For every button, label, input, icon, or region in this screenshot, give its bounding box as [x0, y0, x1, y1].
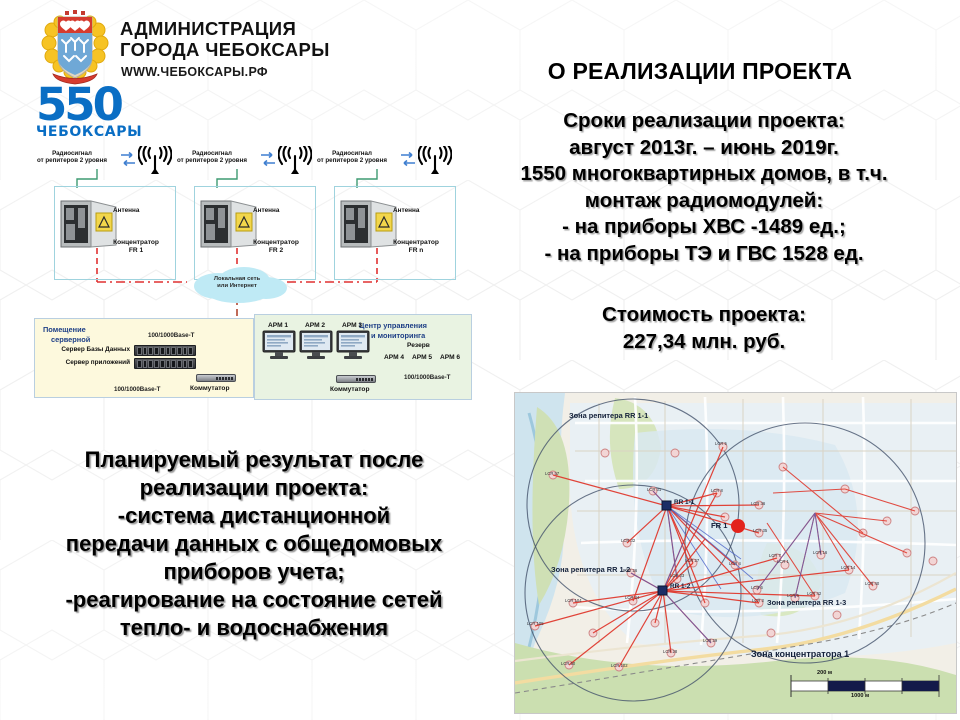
map-node-rr12: RR 1-2: [670, 583, 690, 590]
map-lcr-node-label: LCR 9: [787, 593, 799, 598]
map-lcr-node-label: LCR 57: [545, 471, 559, 476]
result-line-6: -реагирование на состояние сетей: [4, 586, 504, 614]
reserve-workstation-label-3: АРМ 6: [440, 354, 460, 361]
radio-signal-label-2: Радиосигнал от репитеров 2 уровня: [166, 150, 258, 165]
map-lcr-node-label: LCR 8: [711, 488, 723, 493]
terms-line-1: Сроки реализации проекта:: [455, 108, 953, 135]
radio-signal-label-3: Радиосигнал от репитеров 2 уровня: [306, 150, 398, 165]
map-lcr-node-label: LCR 104: [565, 598, 582, 603]
terms-line-5: - на приборы ХВС -1489 ед.;: [455, 214, 953, 241]
workstation-monitor-2: [299, 330, 333, 360]
map-zone-label-rr11: Зона репитера RR 1-1: [569, 411, 648, 420]
map-lcr-node-label: LCR 14: [841, 565, 855, 570]
map-lcr-node-label: LCR 50: [561, 661, 575, 666]
workstation-label-3: АРМ 3: [342, 322, 362, 329]
map-zone-label-rr12: Зона репитера RR 1-2: [551, 565, 630, 574]
map-lcr-node-label: LCR 29: [703, 638, 717, 643]
antenna-label-1: Антенна: [113, 207, 139, 214]
cost-line-2: 227,34 млн. руб.: [455, 329, 953, 356]
db-server-rack: [134, 345, 196, 356]
control-center-switch-label: Коммутатор: [330, 386, 369, 393]
map-lcr-node-label: LCR 28: [663, 649, 677, 654]
map-lcr-node-label: LCR 35: [753, 528, 767, 533]
map-lcr-node-label: LCR 102: [611, 663, 628, 668]
website-url[interactable]: WWW.ЧЕБОКСАРЫ.РФ: [121, 65, 268, 79]
map-lcr-node-label: LCR 32: [621, 538, 635, 543]
anniversary-number: 550: [36, 84, 136, 126]
server-room-switch: [196, 374, 236, 382]
antenna-icon-2: [278, 146, 312, 176]
map-canvas: [515, 393, 956, 713]
signal-arrows-icon-3: [400, 151, 416, 169]
cloud-label: Локальная сеть или Интернет: [200, 276, 274, 290]
map-lcr-node-label: LCR 27: [685, 558, 699, 563]
map-lcr-node-label: LCR 16: [813, 550, 827, 555]
map-lcr-node-label: LCR 42: [807, 591, 821, 596]
radio-signal-label-1: Радиосигнал от репитеров 2 уровня: [26, 150, 118, 165]
brand-block: АДМИНИСТРАЦИЯ ГОРОДА ЧЕБОКСАРЫ WWW.ЧЕБОК…: [36, 6, 456, 146]
server-room-switch-label: Коммутатор: [190, 385, 229, 392]
workstation-monitor-3: [336, 330, 370, 360]
concentrator-label-2: Концентратор FR 2: [243, 239, 309, 255]
map-lcr-node-label: LCR 36: [751, 501, 765, 506]
admin-title-line2: ГОРОДА ЧЕБОКСАРЫ: [120, 39, 330, 60]
project-terms-block: Сроки реализации проекта: август 2013г. …: [455, 108, 953, 267]
map-zone-label-rr13: Зона репитера RR 1-3: [767, 598, 846, 607]
workstation-monitor-1: [262, 330, 296, 360]
antenna-label-2: Антенна: [253, 207, 279, 214]
map-lcr-node-label: LCR 26: [623, 568, 637, 573]
map-scale-small: 200 м: [817, 670, 832, 676]
antenna-icon-3: [418, 146, 452, 176]
workstation-label-1: АРМ 1: [268, 322, 288, 329]
terms-line-3: 1550 многоквартирных домов, в т.ч.: [455, 161, 953, 188]
reserve-label: Резерв: [407, 342, 430, 349]
anniversary-logo-550: 550 ЧЕБОКСАРЫ: [36, 84, 136, 146]
page-title: О РЕАЛИЗАЦИИ ПРОЕКТА: [455, 58, 945, 85]
app-server-rack: [134, 358, 196, 369]
reserve-link-speed: 100/1000Base-T: [404, 374, 450, 381]
map-zone-label-concentrator: Зона концентратора 1: [751, 649, 849, 659]
map-scale-large: 1000 м: [851, 693, 869, 699]
app-server-label: Сервер приложений: [32, 359, 130, 366]
bus-link-speed: 100/1000Base-T: [114, 386, 160, 393]
signal-arrows-icon-2: [260, 151, 276, 169]
coat-of-arms-icon: [40, 8, 110, 86]
cost-line-1: Стоимость проекта:: [455, 302, 953, 329]
terms-line-6: - на приборы ТЭ и ГВС 1528 ед.: [455, 241, 953, 268]
map-lcr-node-label: LCR 4: [729, 561, 741, 566]
terms-line-2: август 2013г. – июнь 2019г.: [455, 135, 953, 162]
concentrator-box-1: Антенна Концентратор FR 1: [54, 186, 176, 280]
map-lcr-node-label: LCR 31: [647, 487, 661, 492]
antenna-icon-1: [138, 146, 172, 176]
planned-result-block: Планируемый результат после реализации п…: [4, 446, 504, 642]
control-center-switch: [336, 375, 376, 383]
antenna-label-3: Антенна: [393, 207, 419, 214]
result-line-1: Планируемый результат после: [4, 446, 504, 474]
workstation-label-2: АРМ 2: [305, 322, 325, 329]
concentrator-box-3: Антенна Концентратор FR n: [334, 186, 456, 280]
map-lcr-node-label: LCR 1: [777, 559, 789, 564]
reserve-workstation-label-1: АРМ 4: [384, 354, 404, 361]
anniversary-city: ЧЕБОКСАРЫ: [36, 124, 136, 140]
map-lcr-node-label: LCR 6: [751, 585, 763, 590]
server-room-link-speed: 100/1000Base-T: [148, 332, 194, 339]
terms-line-4: монтаж радиомодулей:: [455, 188, 953, 215]
server-room-title: Помещение серверной: [43, 325, 90, 344]
concentrator-label-1: Концентратор FR 1: [103, 239, 169, 255]
reserve-workstation-label-2: АРМ 5: [412, 354, 432, 361]
concentrator-label-3: Концентратор FR n: [383, 239, 449, 255]
result-line-5: приборов учета;: [4, 558, 504, 586]
administration-title: АДМИНИСТРАЦИЯ ГОРОДА ЧЕБОКСАРЫ: [120, 18, 330, 60]
map-lcr-node-label: LCR 7: [769, 553, 781, 558]
map-lcr-node-label: LCR 33: [670, 573, 684, 578]
signal-arrows-icon-1: [120, 151, 136, 169]
map-lcr-node-label: LCR 40: [865, 581, 879, 586]
result-line-7: тепло- и водоснабжения: [4, 614, 504, 642]
network-architecture-diagram: Радиосигнал от репитеров 2 уровня Радиос…: [22, 146, 482, 446]
map-lcr-node-label: LCR 34: [625, 595, 639, 600]
project-cost-block: Стоимость проекта: 227,34 млн. руб.: [455, 302, 953, 355]
result-line-3: -система дистанционной: [4, 502, 504, 530]
map-lcr-node-label: LCR 105: [527, 621, 544, 626]
map-node-rr11: RR 1-1: [674, 499, 694, 506]
map-lcr-node-label: LCR 5: [715, 441, 727, 446]
admin-title-line1: АДМИНИСТРАЦИЯ: [120, 18, 330, 39]
result-line-2: реализации проекта:: [4, 474, 504, 502]
map-node-fr1: FR 1: [711, 521, 727, 530]
result-line-4: передачи данных с общедомовых: [4, 530, 504, 558]
db-server-label: Сервер Базы Данных: [32, 346, 130, 353]
coverage-map[interactable]: Зона репитера RR 1-1 Зона репитера RR 1-…: [514, 392, 957, 714]
map-lcr-node-label: LCR 3: [752, 598, 764, 603]
